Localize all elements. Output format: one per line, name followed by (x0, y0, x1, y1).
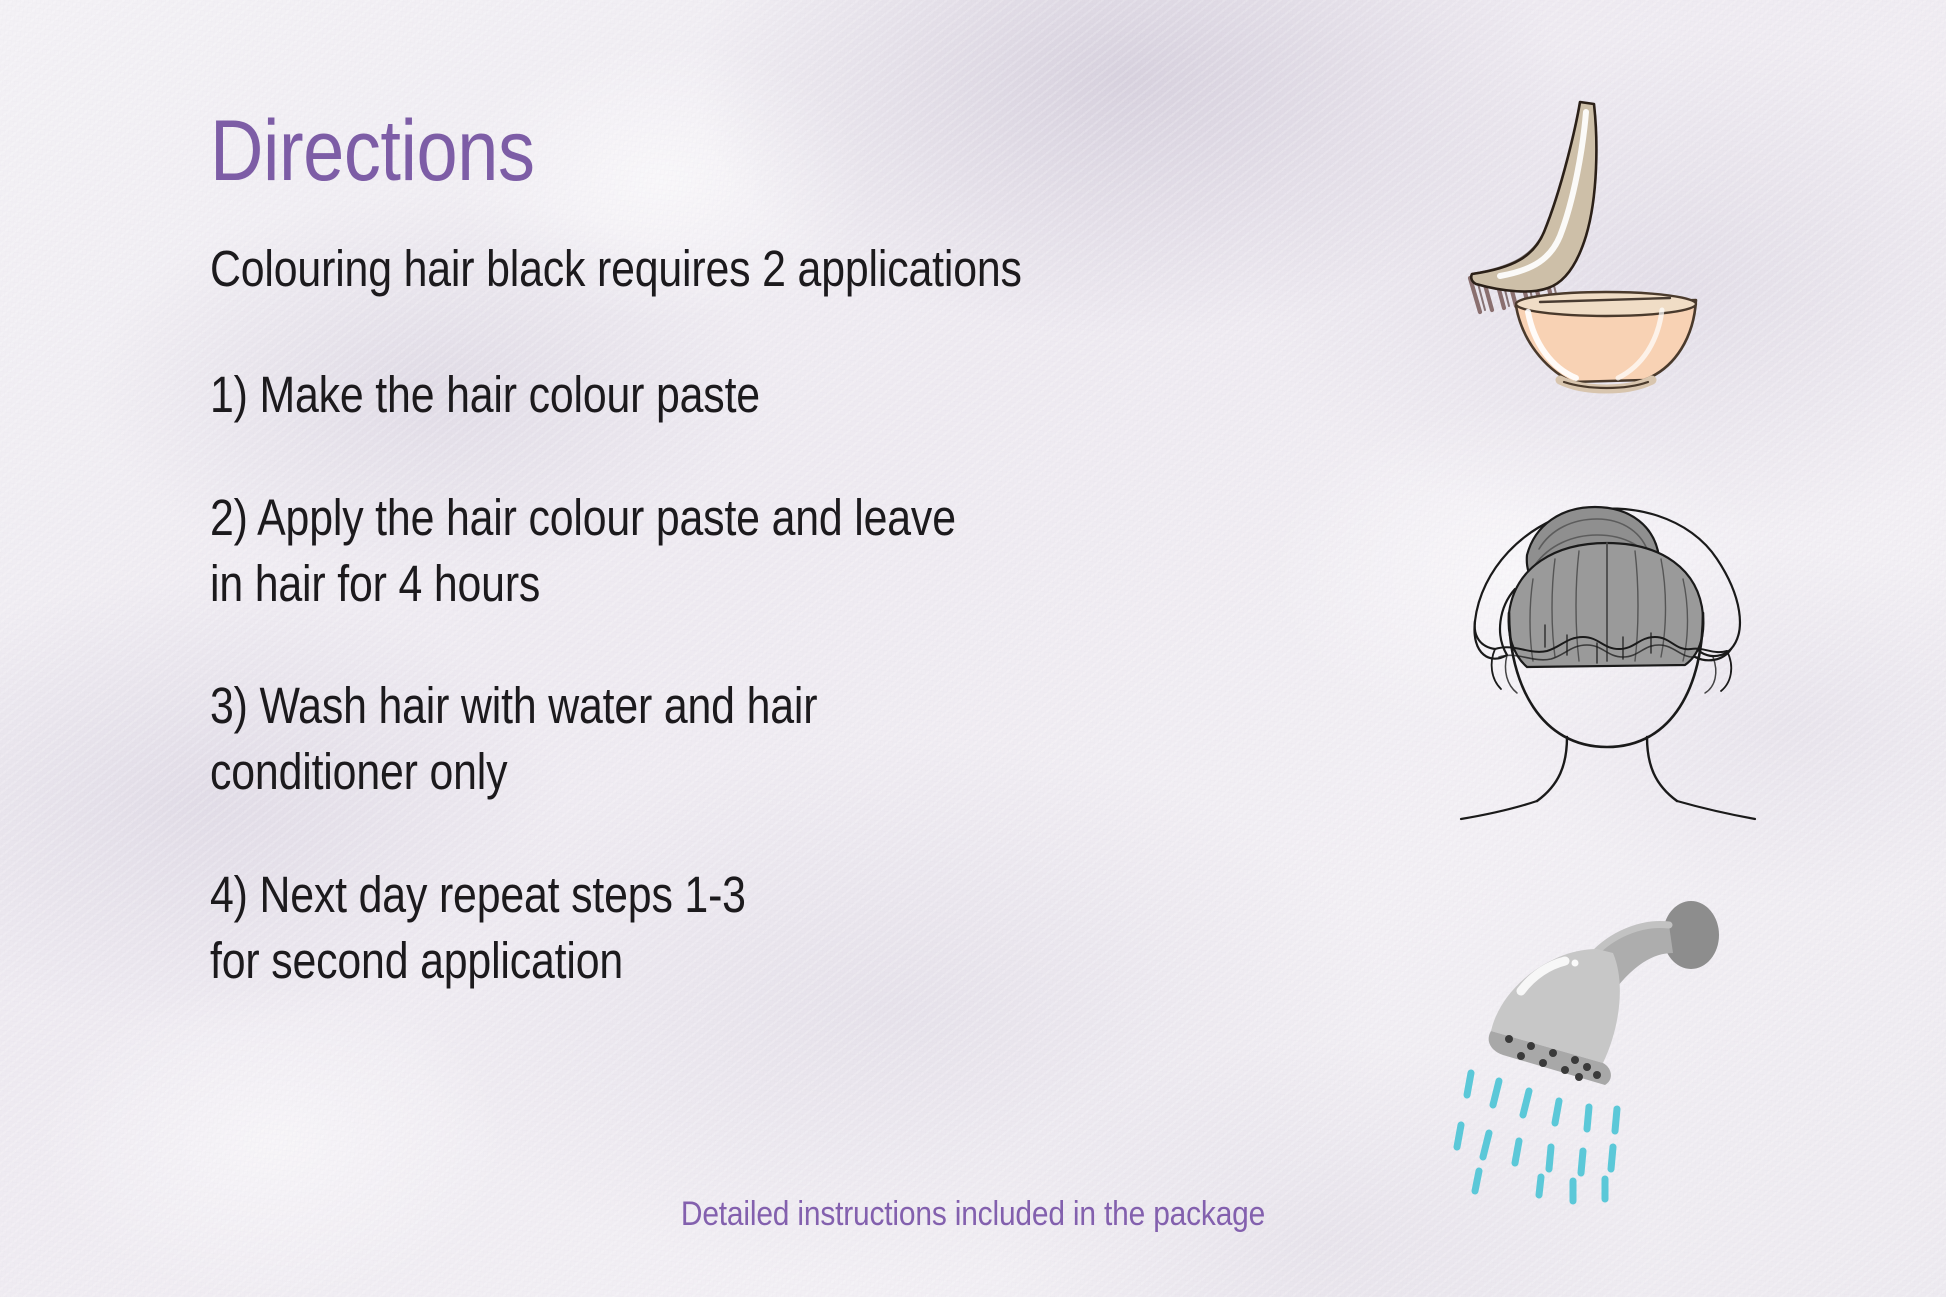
step-item-1: 1) Make the hair colour paste (210, 362, 1400, 428)
step-2-line-2: in hair for 4 hours (210, 551, 1210, 617)
step-2-line-1: 2) Apply the hair colour paste and leave (210, 485, 1210, 551)
step-item-3: 3) Wash hair with water and hair conditi… (210, 673, 1400, 806)
shower-head-dome-icon (1489, 949, 1620, 1085)
water-drops-icon (1457, 1073, 1617, 1201)
shoulders-icon (1461, 801, 1537, 819)
page-title: Directions (210, 108, 1233, 194)
step-4-line-1: 4) Next day repeat steps 1-3 (210, 862, 1210, 928)
head-with-shower-cap-icon (1455, 485, 1795, 830)
step-3-line-1: 3) Wash hair with water and hair (210, 673, 1210, 739)
step-1-line-1: 1) Make the hair colour paste (210, 362, 1210, 428)
step-4-line-2: for second application (210, 928, 1210, 994)
brush-handle-icon (1471, 102, 1596, 291)
hair-front-icon (1509, 543, 1704, 667)
intro-text: Colouring hair black requires 2 applicat… (210, 236, 1210, 302)
step-item-2: 2) Apply the hair colour paste and leave… (210, 485, 1400, 618)
neck-icon (1537, 737, 1567, 801)
step-3-line-2: conditioner only (210, 739, 1210, 805)
shower-head-with-water-icon (1455, 895, 1815, 1195)
step-item-4: 4) Next day repeat steps 1-3 for second … (210, 862, 1400, 995)
directions-slide: Directions Colouring hair black requires… (0, 0, 1946, 1297)
shower-wall-mount-icon (1663, 901, 1719, 969)
hair-dye-brush-and-bowl-icon (1448, 96, 1778, 396)
instructions-text-column: Directions Colouring hair black requires… (210, 108, 1400, 994)
mixing-bowl-icon (1516, 292, 1696, 389)
